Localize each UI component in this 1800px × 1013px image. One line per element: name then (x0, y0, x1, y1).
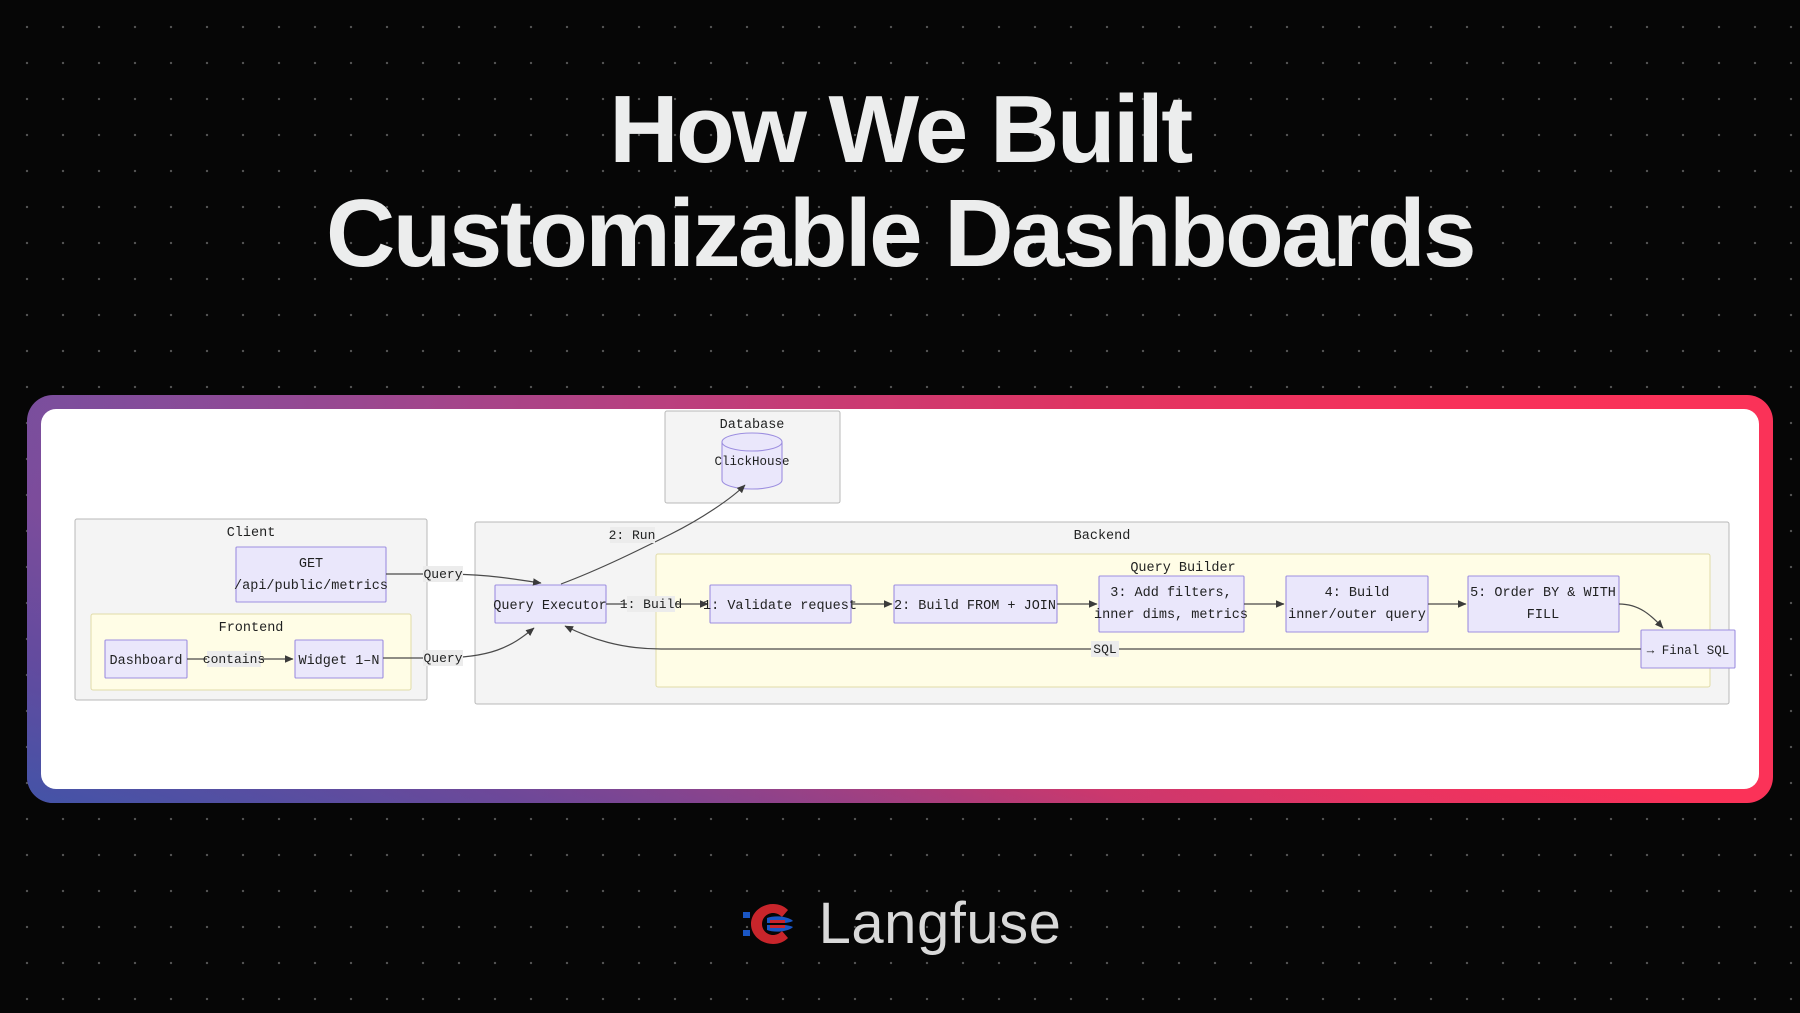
node-clickhouse-label: ClickHouse (714, 455, 789, 469)
cluster-frontend-label: Frontend (219, 621, 284, 636)
node-step-5[interactable] (1468, 576, 1619, 632)
node-step-4-line-2: inner/outer query (1288, 608, 1426, 623)
edge-label-contains: contains (203, 652, 265, 667)
page-title-line-2: Customizable Dashboards (0, 182, 1800, 286)
node-step-4-line-1: 4: Build (1325, 586, 1390, 601)
node-widget-label: Widget 1–N (298, 654, 379, 669)
brand-name: Langfuse (819, 895, 1062, 953)
node-get-metrics-line-2: /api/public/metrics (234, 579, 388, 594)
brand-footer: Langfuse (0, 895, 1800, 953)
node-step-5-line-1: 5: Order BY & WITH (1470, 586, 1616, 601)
edge-label-query-top: Query (423, 567, 462, 582)
cluster-client-label: Client (227, 526, 276, 541)
page-title: How We Built Customizable Dashboards (0, 78, 1800, 285)
edge-label-query-bottom: Query (423, 651, 462, 666)
node-step-2-label: 2: Build FROM + JOIN (894, 599, 1056, 614)
edge-label-sql: SQL (1093, 642, 1116, 657)
architecture-diagram: Client GET /api/public/metrics Frontend … (41, 409, 1759, 789)
cluster-query-builder-label: Query Builder (1130, 561, 1235, 576)
node-step-3-line-2: inner dims, metrics (1094, 608, 1248, 623)
node-step-3-line-1: 3: Add filters, (1110, 586, 1232, 601)
edge-label-build: 1: Build (620, 597, 682, 612)
cluster-backend-label: Backend (1074, 529, 1131, 544)
node-query-executor-label: Query Executor (493, 599, 606, 614)
node-step-1-label: 1: Validate request (703, 599, 857, 614)
node-step-4[interactable] (1286, 576, 1428, 632)
langfuse-logo-icon (739, 898, 797, 950)
diagram-card-frame: Client GET /api/public/metrics Frontend … (27, 395, 1773, 803)
diagram-card: Client GET /api/public/metrics Frontend … (41, 409, 1759, 789)
page-title-line-1: How We Built (0, 78, 1800, 182)
node-final-sql-label: → Final SQL (1647, 644, 1730, 658)
edge-label-run: 2: Run (609, 528, 656, 543)
poster-canvas: How We Built Customizable Dashboards Cli… (0, 0, 1800, 1013)
node-get-metrics-line-1: GET (299, 557, 323, 572)
node-dashboard-label: Dashboard (110, 654, 183, 669)
node-step-5-line-2: FILL (1527, 608, 1559, 623)
cluster-database-label: Database (720, 418, 785, 433)
node-step-3[interactable] (1099, 576, 1244, 632)
